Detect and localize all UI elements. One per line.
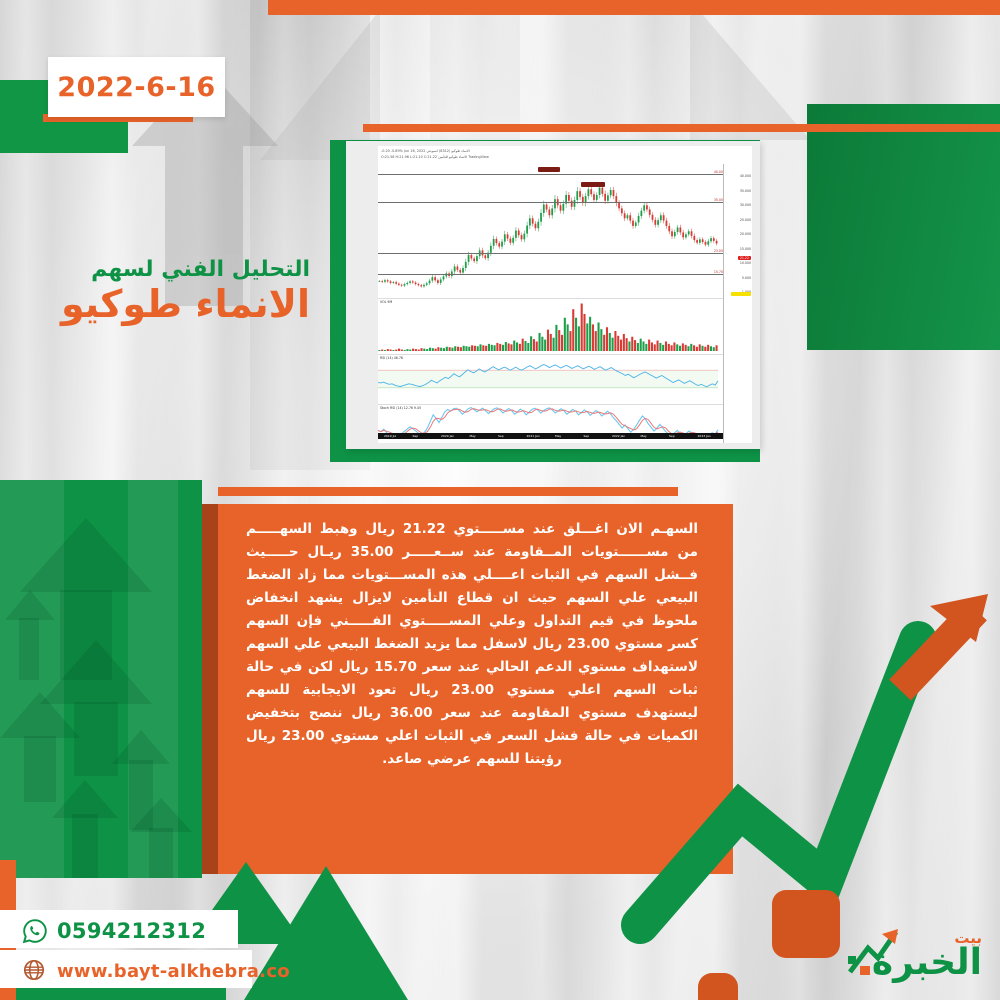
text-panel-rail [218, 487, 678, 496]
level-line-23: 23.00 [378, 253, 723, 254]
chart-header: الانماء طوكيو (8312) اسبوعي ‎-0.20 ‎-0.8… [381, 148, 750, 164]
x-tick: Sep [669, 434, 675, 438]
level-line-1570: 15.70 [378, 274, 723, 275]
y-tick: 30.000 [740, 203, 751, 207]
chart-x-axis: 2019 JulSep2020 JanMaySep2021 JanMaySep2… [378, 433, 723, 439]
whatsapp-icon [22, 918, 48, 944]
date-badge: 2022-6-16 [48, 57, 225, 117]
globe-icon [22, 958, 48, 984]
chart-volume-panel: VOL 9M [378, 298, 723, 353]
decorative-arrow-block [0, 480, 202, 878]
x-tick: Sep [413, 434, 419, 438]
top-right-green-block [807, 104, 1000, 350]
y-tick: 10.000 [740, 261, 751, 265]
decor-square-1 [772, 890, 840, 958]
x-tick: May [470, 434, 476, 438]
chart-rsi-panel: RSI (14) 46.78 [378, 354, 723, 403]
chart-price-panel: 40.00 35.00 23.00 15.70 [378, 164, 723, 294]
resistance-zone-1 [538, 167, 560, 172]
contact-phone-number: 0594212312 [57, 919, 206, 943]
y-tick: 40.000 [740, 174, 751, 178]
headline-stock-name: الانماء طوكيو [0, 284, 310, 326]
top-orange-rail [268, 0, 1000, 15]
y-tick: 25.000 [740, 218, 751, 222]
contact-website-url: www.bayt-alkhebra.co [57, 961, 290, 982]
volume-bars [378, 299, 723, 353]
technical-chart: الانماء طوكيو (8312) اسبوعي ‎-0.20 ‎-0.8… [378, 146, 752, 443]
volume-axis-badge [731, 292, 751, 296]
green-trend-arrow [640, 640, 918, 925]
y-tick: 35.000 [740, 189, 751, 193]
contact-block: 0594212312 www.bayt-alkhebra.co [0, 906, 252, 992]
x-tick: Sep [584, 434, 590, 438]
x-tick: May [555, 434, 561, 438]
logo-wordmark: بيت الخبرة [872, 931, 982, 980]
contact-phone-row[interactable]: 0594212312 [22, 916, 206, 946]
x-tick: 2020 Jan [441, 434, 454, 438]
chart-header-line-2: TradingView الانماء طوكيو للتأمين O:21.5… [381, 154, 750, 160]
logo-main-text: الخبرة [872, 946, 982, 980]
level-line-35: 35.00 [378, 202, 723, 203]
last-price-badge: 21.22 [738, 256, 751, 260]
contact-website-row[interactable]: www.bayt-alkhebra.co [22, 956, 290, 986]
decor-square-2 [698, 973, 738, 1000]
chart-top-rail [363, 124, 1000, 132]
x-tick: 2021 Jan [527, 434, 540, 438]
level-line-40: 40.00 [378, 174, 723, 175]
y-tick: 20.000 [740, 232, 751, 236]
rsi-line [378, 355, 723, 403]
stoch-panel-label: Stoch RSI (14) 12.76 9.45 [380, 406, 421, 410]
resistance-zone-2 [581, 182, 605, 187]
x-tick: Sep [498, 434, 504, 438]
poster-canvas: 2022-6-16 التحليل الفني لسهم الانماء طوك… [0, 0, 1000, 1000]
volume-panel-label: VOL 9M [380, 300, 392, 304]
rsi-panel-label: RSI (14) 46.78 [380, 356, 403, 360]
date-text: 2022-6-16 [57, 72, 215, 103]
page-title: التحليل الفني لسهم الانماء طوكيو [0, 258, 310, 326]
x-tick: May [641, 434, 647, 438]
y-tick: 15.000 [740, 247, 751, 251]
x-tick: 2022 Jan [612, 434, 625, 438]
x-tick: 2019 Jul [384, 434, 396, 438]
logo: بيت الخبرة [846, 904, 986, 986]
headline-subtitle: التحليل الفني لسهم [0, 258, 310, 282]
chart-y-axis: 40.00035.00030.00025.00020.00015.00010.0… [723, 164, 752, 443]
y-tick: 5.000 [742, 276, 751, 280]
x-tick: 2023 Jan [698, 434, 711, 438]
